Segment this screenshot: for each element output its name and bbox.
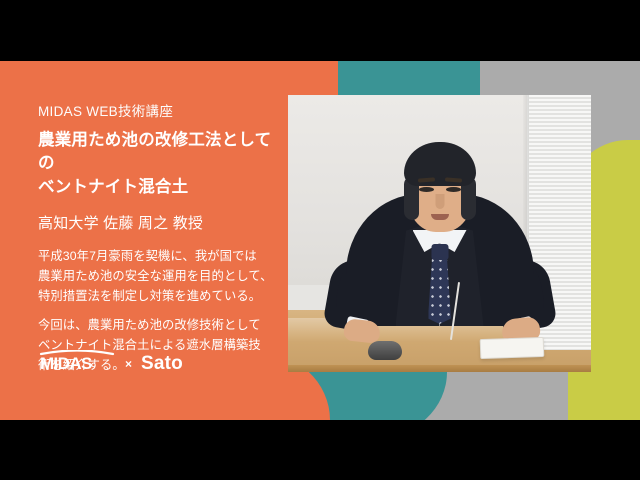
slide-text-block: MIDAS WEB技術講座 農業用ため池の改修工法としての ベントナイト混合土 … xyxy=(38,100,280,385)
slide-content: MIDAS WEB技術講座 農業用ため池の改修工法としての ベントナイト混合土 … xyxy=(0,61,640,420)
svg-text:MIDAS: MIDAS xyxy=(40,354,92,372)
speaker-name: 高知大学 佐藤 周之 教授 xyxy=(38,212,280,233)
series-eyebrow: MIDAS WEB技術講座 xyxy=(38,100,280,120)
title-line-2: ベントナイト混合土 xyxy=(38,178,188,196)
photo-papers xyxy=(479,337,544,359)
abstract-line-2: 農業用ため池の安全な運用を目的として、 xyxy=(38,269,273,283)
title-line-1: 農業用ため池の改修工法としての xyxy=(38,131,271,172)
page-title: 農業用ため池の改修工法としての ベントナイト混合土 xyxy=(38,129,280,199)
abstract-line-4: 今回は、農業用ため池の改修技術として xyxy=(38,318,261,332)
midas-swoosh-logo: MIDAS xyxy=(38,350,116,377)
speaker-portrait xyxy=(288,95,591,372)
logo-lockup: MIDAS × Sato xyxy=(38,350,183,377)
photo-computer-mouse xyxy=(368,341,402,360)
photo-nose xyxy=(435,194,444,209)
partner-logo-text: Sato xyxy=(141,354,183,373)
letterbox-bar-top xyxy=(0,0,640,61)
letterbox-bar-bottom xyxy=(0,420,640,480)
abstract-line-1: 平成30年7月豪雨を契機に、我が国では xyxy=(38,249,257,263)
photo-necktie-knot xyxy=(431,244,448,260)
photo-desk-edge xyxy=(288,365,591,372)
video-frame: MIDAS WEB技術講座 農業用ため池の改修工法としての ベントナイト混合土 … xyxy=(0,0,640,480)
abstract-line-3: 特別措置法を制定し対策を進めている。 xyxy=(38,289,261,303)
logo-separator: × xyxy=(125,358,132,370)
abstract-paragraph-1: 平成30年7月豪雨を契機に、我が国では 農業用ため池の安全な運用を目的として、 … xyxy=(38,247,280,307)
photo-eye-left xyxy=(419,187,434,192)
photo-eye-right xyxy=(446,187,461,192)
